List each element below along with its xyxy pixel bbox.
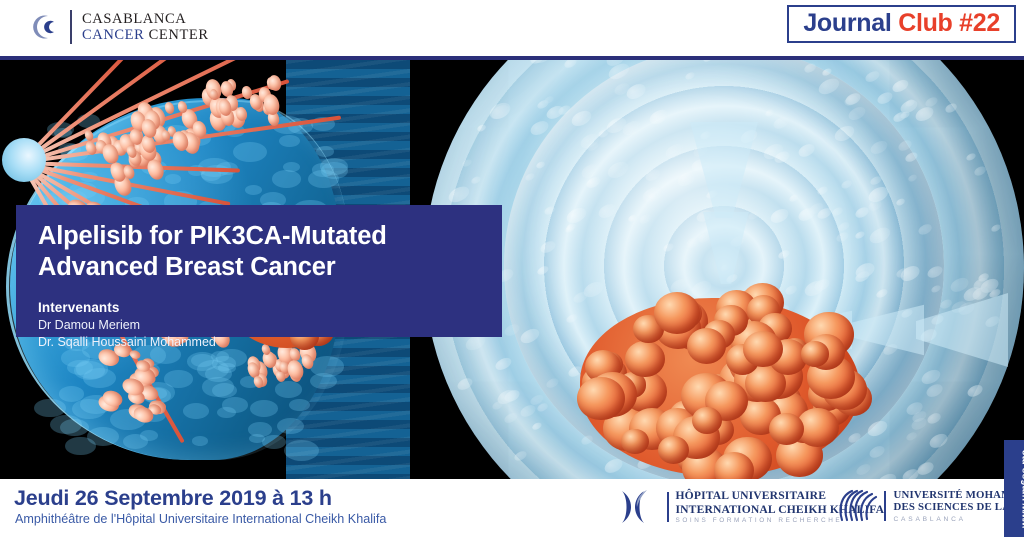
journal-club-badge: Journal Club #22 <box>787 5 1016 43</box>
journal-club-badge-text: Journal Club #22 <box>803 10 1000 36</box>
club-number-word: Club #22 <box>898 9 1000 37</box>
um6ss-swirl-icon <box>836 487 880 525</box>
brand-logo: CASABLANCA CANCER CENTER <box>12 6 209 48</box>
journal-word: Journal <box>803 9 891 37</box>
header: CASABLANCA CANCER CENTER Journal Club #2… <box>0 0 1024 56</box>
brand-cancer-word: CANCER <box>82 27 144 43</box>
casablanca-cancer-center-crescent-icon <box>12 7 64 47</box>
poster: CASABLANCA CANCER CENTER Journal Club #2… <box>0 0 1024 537</box>
university-logo: UNIVERSITÉ MOHAMMED VI DES SCIENCES DE L… <box>836 487 1024 525</box>
huich-monogram-icon <box>614 487 660 527</box>
website-tab[interactable]: www.um6ss.ma <box>1004 440 1024 537</box>
title-panel: Alpelisib for PIK3CA-Mutated Advanced Br… <box>16 205 502 337</box>
speaker-name: Dr. Sqalli Houssaini Mohammed <box>38 334 480 351</box>
university-logo-divider <box>884 491 886 521</box>
hero-image-band: Alpelisib for PIK3CA-Mutated Advanced Br… <box>0 60 1024 479</box>
event-date: Jeudi 26 Septembre 2019 à 13 h <box>14 486 332 511</box>
brand-text: CASABLANCA CANCER CENTER <box>82 11 209 43</box>
brand-center-word: CENTER <box>144 27 208 43</box>
hospital-logo-divider <box>667 492 669 522</box>
tumour-mass <box>570 282 870 479</box>
brand-line-1: CASABLANCA <box>82 11 209 27</box>
brand-divider <box>70 10 72 44</box>
nipple <box>2 138 46 182</box>
event-venue: Amphithéâtre de l'Hôpital Universitaire … <box>15 512 386 526</box>
brand-line-2: CANCER CENTER <box>82 27 209 43</box>
website-url: www.um6ss.ma <box>1019 450 1024 528</box>
speaker-name: Dr Damou Meriem <box>38 317 480 334</box>
title-panel-inner: Alpelisib for PIK3CA-Mutated Advanced Br… <box>16 205 502 364</box>
page-title: Alpelisib for PIK3CA-Mutated Advanced Br… <box>38 221 480 283</box>
speakers-heading: Intervenants <box>38 300 480 315</box>
